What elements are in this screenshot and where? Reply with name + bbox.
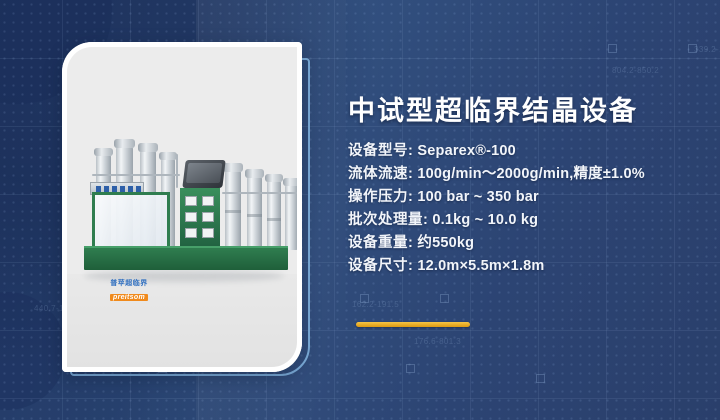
cabinet-panel: [185, 212, 197, 222]
vessel-cap: [223, 163, 243, 172]
spec-panel: 中试型超临界结晶设备 设备型号: Separex®-100 流体流速: 100g…: [348, 96, 700, 278]
vessel-band: [225, 210, 241, 213]
operator-monitor: [182, 160, 225, 188]
spec-label: 流体流速:: [348, 166, 413, 182]
equipment-platform: [84, 248, 288, 270]
spec-value: 约550kg: [417, 235, 474, 251]
accent-bar: [356, 322, 470, 327]
page-title: 中试型超临界结晶设备: [348, 96, 700, 126]
brand-name-en: preitsom: [110, 294, 148, 301]
vessel-cap: [245, 169, 264, 178]
vessel-cap: [283, 178, 300, 186]
spec-label: 设备型号:: [348, 143, 413, 159]
cabinet-panel: [185, 196, 197, 206]
spec-value: Separex®-100: [417, 143, 516, 159]
equipment-photo: 普苹超临界 preitsom: [62, 42, 302, 372]
monitor-screen: [186, 163, 222, 183]
spec-label: 操作压力:: [348, 189, 413, 205]
spec-value: 0.1kg ~ 10.0 kg: [432, 212, 538, 228]
vessel-band: [247, 214, 262, 217]
cabinet-panel: [202, 212, 214, 222]
ghost-label: 162.2-191.5: [352, 300, 399, 309]
vessel-cap: [265, 174, 283, 182]
equipment-branding: 普苹超临界 preitsom: [98, 280, 160, 303]
vessel: [267, 180, 281, 250]
grid-node: [440, 294, 449, 303]
vessel: [247, 176, 262, 250]
brand-name-cn: 普苹超临界: [98, 280, 160, 287]
glass-enclosure: [92, 192, 170, 250]
spec-row: 设备重量: 约550kg: [348, 232, 700, 255]
slide-root: 162.2-191.5 176.6-801.3 804.2-850.2 339.…: [0, 0, 720, 420]
grid-node: [608, 44, 617, 53]
cabinet-panel: [202, 228, 214, 238]
spec-label: 设备尺寸:: [348, 258, 413, 274]
spec-row: 操作压力: 100 bar ~ 350 bar: [348, 186, 700, 209]
spec-value: 12.0m×5.5m×1.8m: [417, 258, 544, 274]
vessel-band: [267, 218, 281, 221]
vessel-cap: [114, 139, 135, 148]
ghost-label: 339.2-112.3: [694, 45, 720, 54]
cabinet-panel: [202, 196, 214, 206]
vessel-cap: [138, 143, 158, 152]
ghost-label: 804.2-850.2: [612, 66, 659, 75]
spec-row: 批次处理量: 0.1kg ~ 10.0 kg: [348, 209, 700, 232]
spec-label: 设备重量:: [348, 235, 413, 251]
control-cabinet: [180, 188, 220, 250]
vessel-cap: [159, 152, 177, 160]
pipe: [92, 174, 180, 176]
pipe: [176, 154, 178, 188]
ghost-label: 176.6-801.3: [414, 337, 461, 346]
spec-row: 设备尺寸: 12.0m×5.5m×1.8m: [348, 255, 700, 278]
pipe: [222, 192, 300, 194]
vessel-cap: [94, 148, 113, 156]
grid-node: [536, 374, 545, 383]
spec-value: 100g/min～2000g/min,精度±1.0%: [417, 166, 645, 182]
spec-value: 100 bar ~ 350 bar: [417, 189, 539, 205]
spec-row: 设备型号: Separex®-100: [348, 140, 700, 163]
equipment-image-card[interactable]: 普苹超临界 preitsom: [62, 42, 302, 372]
spec-label: 批次处理量:: [348, 212, 428, 228]
cabinet-panel: [185, 228, 197, 238]
spec-row: 流体流速: 100g/min～2000g/min,精度±1.0%: [348, 163, 700, 186]
grid-node: [406, 364, 415, 373]
